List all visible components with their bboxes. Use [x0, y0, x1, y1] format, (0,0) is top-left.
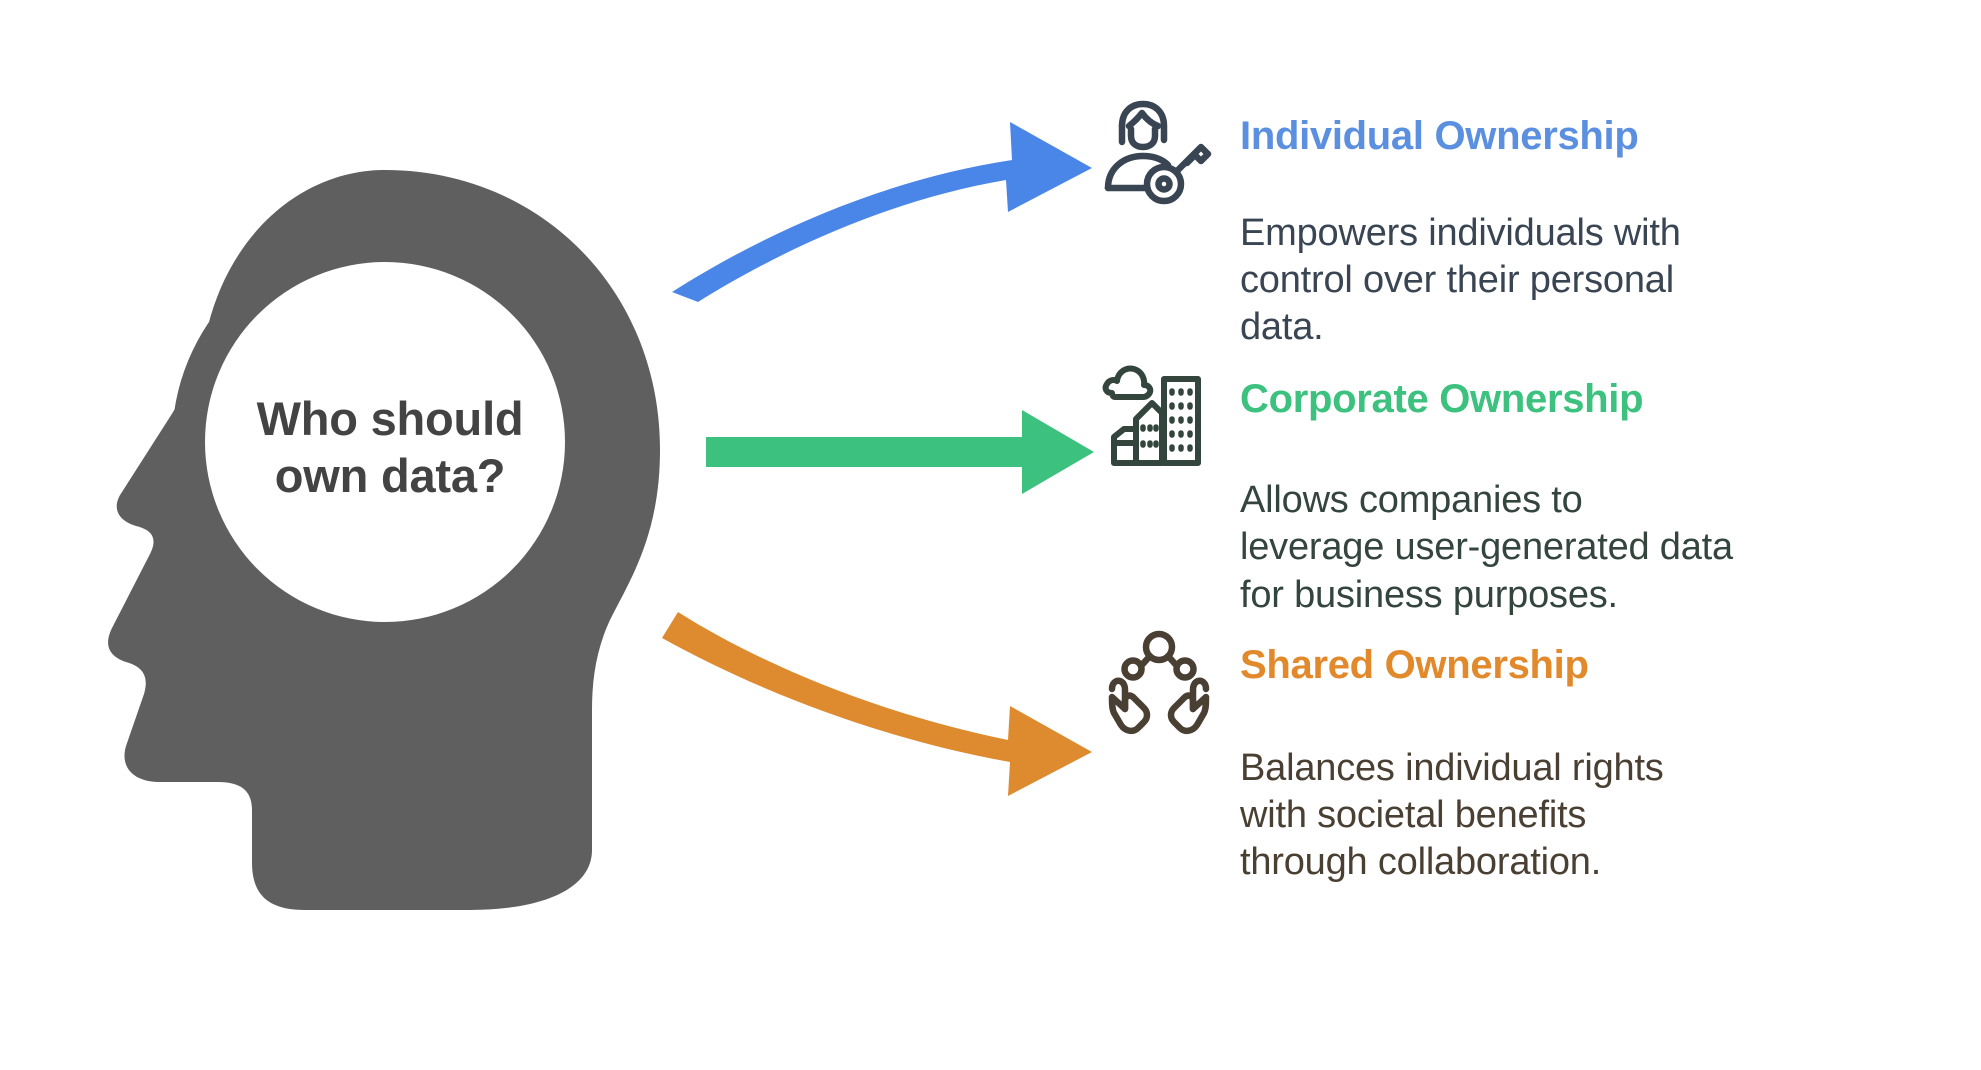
branch-shared: Shared Ownership Balances individual rig… — [1100, 625, 1960, 886]
arrow-individual — [672, 122, 1092, 302]
arrow-shared — [662, 612, 1092, 796]
branch-body-corporate: Allows companies to leverage user-genera… — [1240, 477, 1960, 618]
branch-title-shared: Shared Ownership — [1240, 643, 1589, 688]
branch-header: Corporate Ownership — [1100, 359, 1960, 467]
arrow-corporate — [706, 410, 1094, 494]
central-question: Who should own data? — [180, 390, 600, 505]
city-buildings-cloud-icon — [1100, 359, 1218, 471]
branch-header: Shared Ownership — [1100, 625, 1960, 733]
branch-title-corporate: Corporate Ownership — [1240, 377, 1643, 422]
diagram-canvas: Who should own data? — [0, 0, 1981, 1070]
person-with-key-icon — [1100, 96, 1218, 208]
branches-column: Individual Ownership Empowers individual… — [1100, 96, 1960, 886]
branch-title-individual: Individual Ownership — [1240, 114, 1639, 159]
branch-body-individual: Empowers individuals with control over t… — [1240, 210, 1960, 351]
branch-body-shared: Balances individual rights with societal… — [1240, 745, 1960, 886]
branch-corporate: Corporate Ownership Allows companies to … — [1100, 359, 1960, 618]
branch-individual: Individual Ownership Empowers individual… — [1100, 96, 1960, 351]
branch-header: Individual Ownership — [1100, 96, 1960, 204]
head-silhouette — [40, 150, 700, 950]
hands-holding-network-icon — [1100, 625, 1218, 737]
